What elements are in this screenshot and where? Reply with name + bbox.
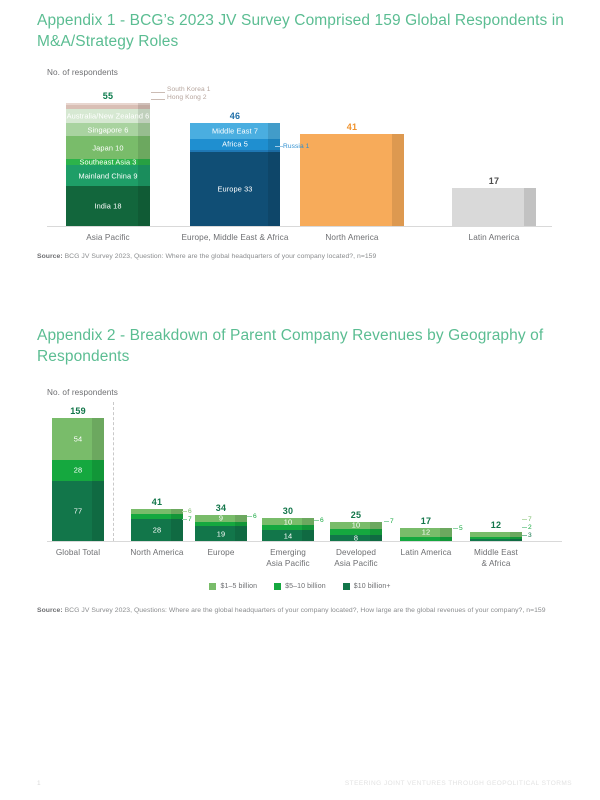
segment-europe: Europe 33 [190,152,280,226]
segment-label: Japan 10 [66,143,150,152]
segment-label: India 18 [66,201,150,210]
segment--10-billion-: 19 [195,526,247,541]
segment--5-10-billion: 28 [52,460,104,482]
category-label: Latin America [430,233,558,244]
segment--5-10-billion [400,537,452,541]
segment-label: Australia/New Zealand 6 [66,112,150,121]
segment-australia-new-zealand: Australia/New Zealand 6 [66,109,150,122]
segment--10-billion-: 77 [52,481,104,541]
page-title-appendix-1: Appendix 1 - BCG’s 2023 JV Survey Compri… [37,10,567,52]
callout-leader-mea-5-10 [522,527,527,528]
segment-singapore: Singapore 6 [66,123,150,136]
bar-middle-east-africa[interactable] [470,532,522,541]
segment-label: Mainland China 9 [66,171,150,180]
bar-total-label: 159 [52,406,104,416]
callout-leader-dap-5-10 [384,521,389,522]
legend-label: $10 billion+ [354,583,391,590]
bar-total-label: 46 [190,111,280,121]
segment-india: India 18 [66,186,150,226]
bar-global-total[interactable]: 542877 [52,418,104,541]
chart1-source-prefix: Source: [37,253,63,260]
bar-latin-america[interactable]: 12 [400,528,452,541]
bar-total-label: 30 [262,506,314,516]
segment-label: 14 [262,531,314,540]
chart2-source-prefix: Source: [37,607,63,614]
segment-shade [392,134,404,226]
category-label: Middle East& Africa [448,548,544,569]
footer-deck-title: STEERING JOINT VENTURES THROUGH GEOPOLIT… [345,780,572,787]
bar-total-label: 41 [300,122,404,132]
footer-page-number: 1 [37,780,41,787]
bar-developed-asia-pacific[interactable]: 108 [330,522,382,541]
chart2-axis-caption: No. of respondents [47,388,118,397]
callout-label-south-korea: South Korea 1 [167,86,210,93]
bar-europe[interactable]: 919 [195,515,247,541]
bar-asia-pacific[interactable]: Australia/New Zealand 6Singapore 6Japan … [66,103,150,226]
segment-label: 19 [195,529,247,538]
callout-label-eap-5-10: 6 [320,517,324,524]
segment--10-billion-: 14 [262,530,314,541]
segment-label: 77 [52,507,104,516]
legend-label: $1–5 billion [220,583,257,590]
segment--1-5-billion: 54 [52,418,104,460]
segment-africa: Africa 5 [190,139,280,150]
callout-label-mea-10p: 3 [528,532,532,539]
chart1-source-text: BCG JV Survey 2023, Question: Where are … [63,253,377,260]
callout-label-mea-1-5: 7 [528,516,532,523]
chart2-legend: $1–5 billion$5–10 billion$10 billion+ [0,583,600,590]
chart2-source-note: Source: BCG JV Survey 2023, Questions: W… [37,606,572,616]
page-title-appendix-2: Appendix 2 - Breakdown of Parent Company… [37,325,567,367]
segment--10-billion-: 28 [131,519,183,541]
callout-label-la-5-10: 5 [459,525,463,532]
segment-shade [510,539,522,541]
chart-appendix-2: 542877159Global Total2841North America91… [0,398,600,543]
segment-japan: Japan 10 [66,136,150,158]
chart1-axis-caption: No. of respondents [47,68,118,77]
bar-total-label: 34 [195,503,247,513]
segment-label: 12 [400,528,452,537]
bar-latin-america[interactable] [452,188,536,226]
segment-label: Africa 5 [190,140,280,149]
segment-label: 8 [330,533,382,542]
segment--1-5-billion: 12 [400,528,452,537]
callout-leader-la-5-10 [453,528,458,529]
segment--1-5-billion: 10 [262,518,314,526]
callout-label-mea-5-10: 2 [528,524,532,531]
segment-latin-america [452,188,536,226]
legend-swatch-icon [343,583,350,590]
segment-label: 54 [52,434,104,443]
callout-leader-mea-10p [522,535,527,536]
category-label: North America [278,233,426,244]
chart1-source-note: Source: BCG JV Survey 2023, Question: Wh… [37,252,572,262]
legend-item-0[interactable]: $1–5 billion [209,583,257,590]
segment-label: 28 [131,526,183,535]
chart2-baseline [47,541,562,542]
segment-shade [440,537,452,541]
legend-item-1[interactable]: $5–10 billion [274,583,326,590]
segment-label: Europe 33 [190,184,280,193]
bar-total-label: 17 [452,176,536,186]
callout-leader-hong-kong [151,99,165,100]
legend-swatch-icon [209,583,216,590]
segment-label: Middle East 7 [190,126,280,135]
callout-label-russia: Russia 1 [283,143,309,150]
chart-appendix-1: Australia/New Zealand 6Singapore 6Japan … [0,78,600,238]
bar-emerging-asia-pacific[interactable]: 1014 [262,518,314,541]
segment--10-billion- [470,539,522,541]
callout-leader-na-5-10 [182,519,187,520]
segment-label: Singapore 6 [66,125,150,134]
legend-swatch-icon [274,583,281,590]
callout-label-na-1-5: 6 [188,508,192,515]
bar-north-america[interactable] [300,134,404,226]
category-label: Asia Pacific [44,233,172,244]
chart2-source-text: BCG JV Survey 2023, Questions: Where are… [63,607,546,614]
callout-leader-russia [275,146,283,147]
segment--1-5-billion: 9 [195,515,247,522]
segment-mainland-china: Mainland China 9 [66,165,150,185]
callout-leader-eap-5-10 [314,520,319,521]
legend-label: $5–10 billion [285,583,326,590]
segment-shade [524,188,536,226]
bar-total-label: 17 [400,516,452,526]
callout-leader-na-1-5 [182,511,187,512]
segment--1-5-billion: 10 [330,522,382,530]
segment-middle-east: Middle East 7 [190,123,280,139]
chart-divider-0 [113,402,114,541]
legend-item-2[interactable]: $10 billion+ [343,583,391,590]
bar-europe-middle-east-africa[interactable]: Middle East 7Africa 5Europe 33 [190,123,280,226]
segment-north-america [300,134,404,226]
bar-total-label: 41 [131,497,183,507]
callout-leader-south-korea [151,92,165,93]
segment--10-billion-: 8 [330,535,382,541]
callout-label-eu-5-10: 6 [253,513,257,520]
segment-southeast-asia: Southeast Asia 3 [66,159,150,166]
bar-total-label: 12 [470,520,522,530]
callout-label-na-5-10: 7 [188,516,192,523]
callout-label-dap-5-10: 7 [390,518,394,525]
bar-total-label: 55 [66,91,150,101]
callout-leader-mea-1-5 [522,519,527,520]
bar-north-america[interactable]: 28 [131,509,183,541]
chart1-baseline [47,226,552,227]
bar-total-label: 25 [330,510,382,520]
callout-leader-eu-5-10 [247,516,252,517]
callout-label-hong-kong: Hong Kong 2 [167,94,207,101]
segment-label: 28 [52,466,104,475]
slide-page: Appendix 1 - BCG’s 2023 JV Survey Compri… [0,0,600,800]
